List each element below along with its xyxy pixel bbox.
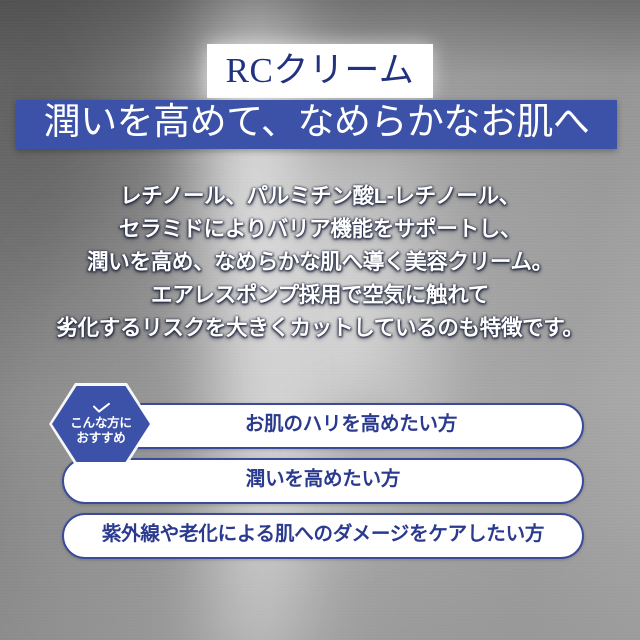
recommend-item-2[interactable]: 潤いを高めたい方 bbox=[62, 458, 584, 504]
product-banner: RCクリーム 潤いを高めて、なめらかなお肌へ レチノール、パルミチン酸L-レチノ… bbox=[0, 0, 640, 640]
description-paragraph: レチノール、パルミチン酸L-レチノール、 セラミドによりバリア機能をサポートし、… bbox=[0, 180, 640, 345]
recommend-badge-line-2: おすすめ bbox=[76, 431, 125, 445]
headline-text: 潤いを高めて、なめらかなお肌へ bbox=[44, 104, 590, 141]
recommend-badge-line-1: こんな方に bbox=[70, 416, 132, 430]
description-line-5: 劣化するリスクを大きくカットしているのも特徴です。 bbox=[0, 312, 640, 345]
description-line-3: 潤いを高め、なめらかな肌へ導く美容クリーム。 bbox=[0, 246, 640, 279]
product-title-plate: RCクリーム bbox=[207, 44, 433, 98]
recommend-item-1-label: お肌のハリを高めたい方 bbox=[245, 415, 457, 435]
check-icon bbox=[93, 403, 110, 413]
product-title: RCクリーム bbox=[226, 53, 415, 88]
banner-content: RCクリーム 潤いを高めて、なめらかなお肌へ レチノール、パルミチン酸L-レチノ… bbox=[0, 0, 640, 640]
description-line-1: レチノール、パルミチン酸L-レチノール、 bbox=[0, 180, 640, 213]
description-line-2: セラミドによりバリア機能をサポートし、 bbox=[0, 213, 640, 246]
recommend-item-3-label: 紫外線や老化による肌へのダメージをケアしたい方 bbox=[102, 525, 544, 545]
description-line-4: エアレスポンプ採用で空気に触れて bbox=[0, 279, 640, 312]
recommend-item-2-label: 潤いを高めたい方 bbox=[246, 470, 400, 490]
recommend-item-3[interactable]: 紫外線や老化による肌へのダメージをケアしたい方 bbox=[62, 513, 584, 559]
headline-band: 潤いを高めて、なめらかなお肌へ bbox=[16, 100, 617, 149]
